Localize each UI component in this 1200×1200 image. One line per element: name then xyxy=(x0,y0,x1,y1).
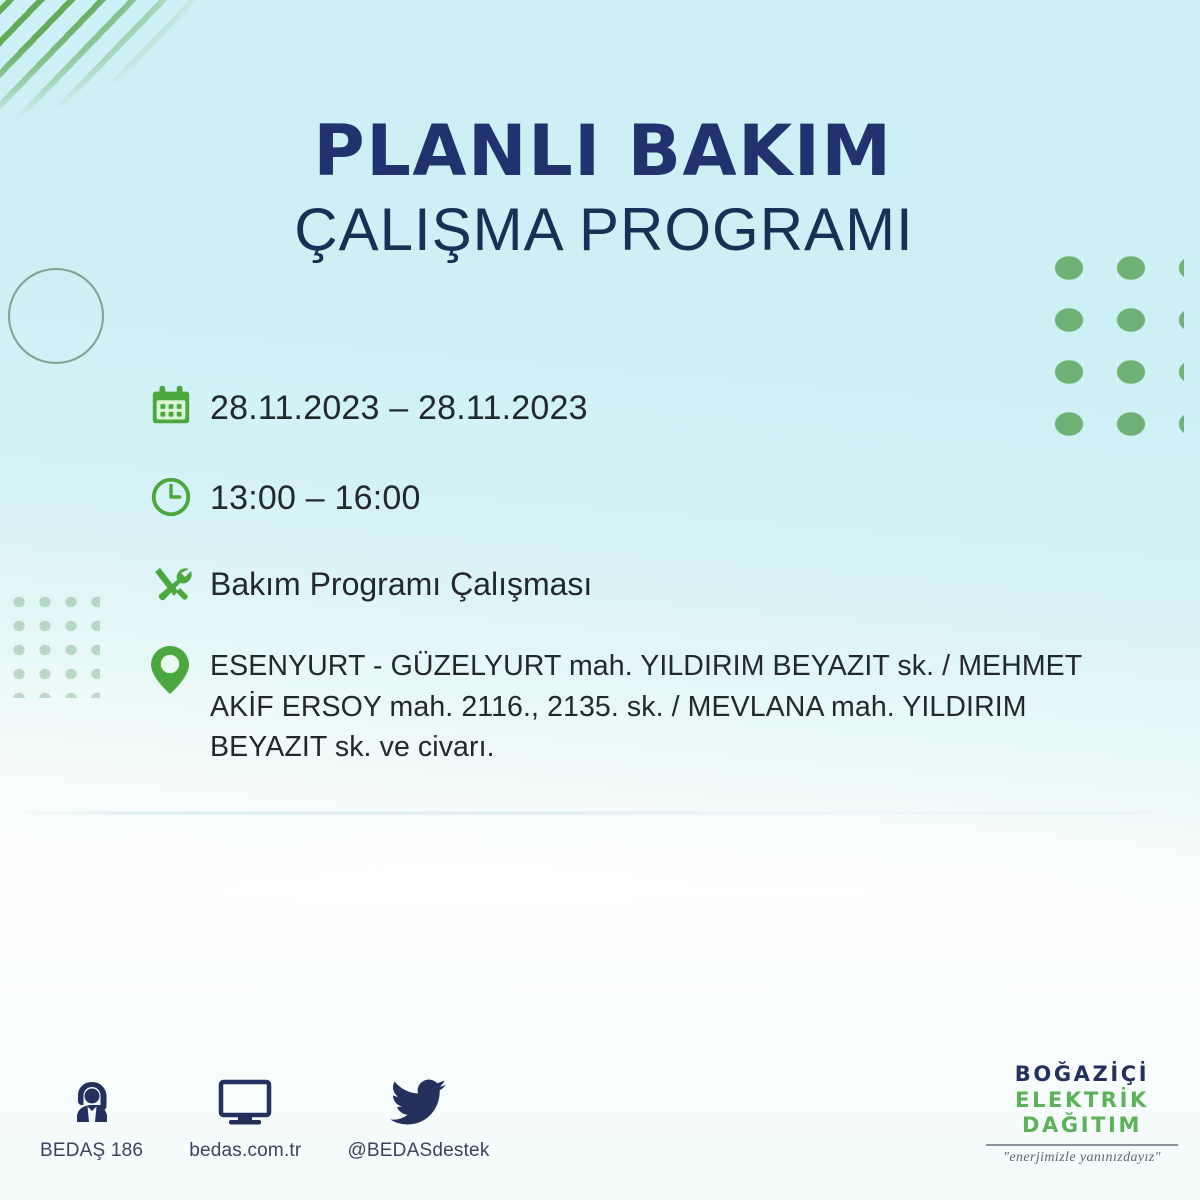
footer-label-phone: BEDAŞ 186 xyxy=(40,1140,143,1162)
info-row-date: 28.11.2023 – 28.11.2023 xyxy=(148,382,1128,430)
wave-divider-line xyxy=(0,812,1200,814)
date-range-text: 28.11.2023 – 28.11.2023 xyxy=(210,382,588,430)
poster-header: PLANLI BAKIM ÇALIŞMA PROGRAMI xyxy=(0,116,1200,261)
page-subtitle: ÇALIŞMA PROGRAMI xyxy=(0,198,1200,261)
brand-tagline: "enerjimizle yanınızdayız" xyxy=(982,1150,1182,1166)
brand-divider xyxy=(986,1144,1178,1146)
twitter-bird-icon xyxy=(389,1072,447,1132)
info-row-address: ESENYURT - GÜZELYURT mah. YILDIRIM BEYAZ… xyxy=(148,642,1128,767)
brand-line-bogazici: BOĞAZİÇİ xyxy=(982,1062,1182,1088)
tools-icon xyxy=(148,560,210,610)
brand-line-dagitim: DAĞITIM xyxy=(982,1113,1182,1139)
clock-icon xyxy=(148,472,210,520)
calendar-icon xyxy=(148,382,210,430)
footer-item-website[interactable]: bedas.com.tr xyxy=(189,1072,301,1162)
footer-contact-strip: BEDAŞ 186 bedas.com.tr @BEDASdestek xyxy=(40,1072,560,1162)
footer-label-twitter: @BEDASdestek xyxy=(347,1140,489,1162)
circle-outline-decoration xyxy=(8,268,104,364)
info-row-work: Bakım Programı Çalışması xyxy=(148,560,1128,610)
address-text: ESENYURT - GÜZELYURT mah. YILDIRIM BEYAZ… xyxy=(210,642,1090,767)
info-list: 28.11.2023 – 28.11.2023 13:00 – 16:00 xyxy=(148,382,1128,794)
brand-logo: BOĞAZİÇİ ELEKTRİK DAĞITIM "enerjimizle y… xyxy=(982,1062,1182,1166)
dot-grid-left-decoration xyxy=(4,588,100,698)
time-range-text: 13:00 – 16:00 xyxy=(210,472,421,520)
monitor-icon xyxy=(216,1072,274,1132)
footer-label-website: bedas.com.tr xyxy=(189,1140,301,1162)
location-pin-icon xyxy=(148,642,210,696)
page-title: PLANLI BAKIM xyxy=(0,116,1200,186)
brand-line-elektrik: ELEKTRİK xyxy=(982,1088,1182,1114)
poster-canvas: PLANLI BAKIM ÇALIŞMA PROGRAMI xyxy=(0,0,1200,1200)
footer-item-twitter[interactable]: @BEDASdestek xyxy=(347,1072,489,1162)
work-type-text: Bakım Programı Çalışması xyxy=(210,560,592,606)
info-row-time: 13:00 – 16:00 xyxy=(148,472,1128,520)
support-headset-icon xyxy=(66,1072,118,1132)
footer-item-phone[interactable]: BEDAŞ 186 xyxy=(40,1072,143,1162)
